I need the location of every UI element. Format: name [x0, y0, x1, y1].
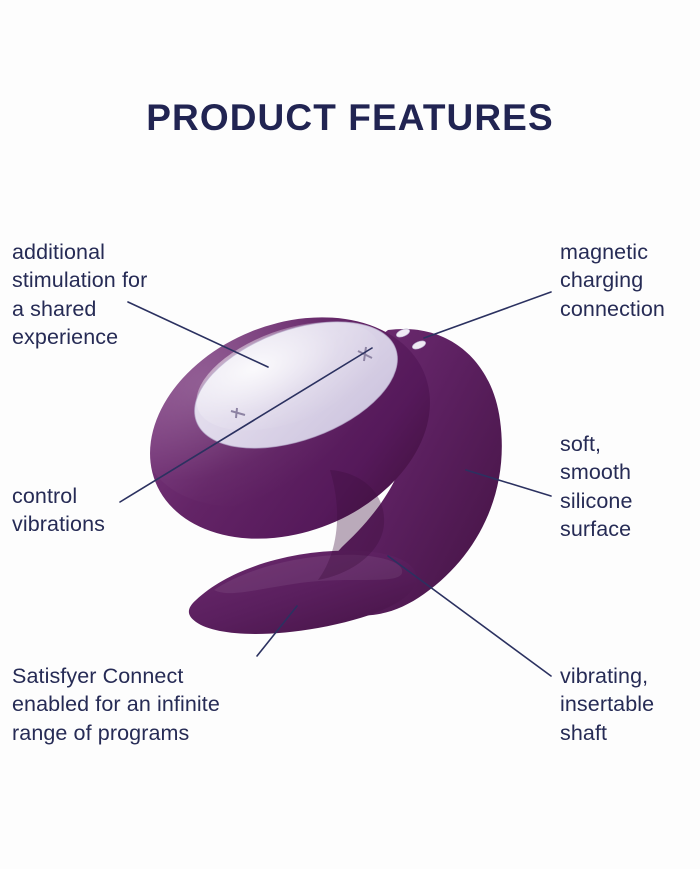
callout-soft-silicone: soft, smooth silicone surface: [560, 430, 700, 544]
callout-satisfyer-connect: Satisfyer Connect enabled for an infinit…: [12, 662, 312, 747]
callout-control-vibrations: control vibrations: [12, 482, 192, 539]
leader-line-vibrating-shaft: [388, 556, 551, 676]
callout-magnetic-charging: magnetic charging connection: [560, 238, 700, 323]
callout-additional-stimulation: additional stimulation for a shared expe…: [12, 238, 227, 352]
callout-vibrating-shaft: vibrating, insertable shaft: [560, 662, 700, 747]
product-features-infographic: PRODUCT FEATURES: [0, 0, 700, 869]
leader-line-magnetic-charging: [424, 292, 551, 338]
